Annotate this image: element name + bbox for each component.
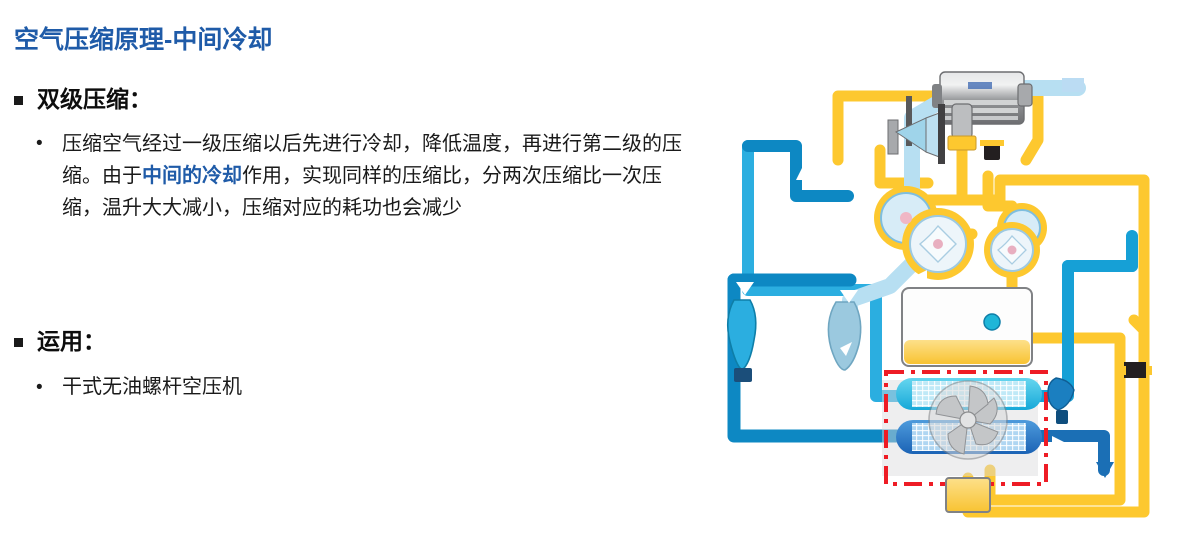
body-line-1: 压缩空气经过一级压缩以后先进行冷却，降低温度，再 <box>62 133 542 155</box>
slide-root: 空气压缩原理-中间冷却 双级压缩： • 压缩空气经过一级压缩以后先进行冷却，降低… <box>0 0 1200 546</box>
text-column: 空气压缩原理-中间冷却 双级压缩： • 压缩空气经过一级压缩以后先进行冷却，降低… <box>0 0 700 546</box>
body-line-3: 作用，实现同样的 <box>242 165 402 187</box>
section-double-stage-compression: 双级压缩： • 压缩空气经过一级压缩以后先进行冷却，降低温度，再进行第二级的压缩… <box>14 84 684 224</box>
cooler-assembly <box>882 378 1042 476</box>
dot-bullet-icon: • <box>36 372 62 404</box>
oil-tank <box>946 478 990 512</box>
section-body: • 压缩空气经过一级压缩以后先进行冷却，降低温度，再进行第二级的压缩。由于中间的… <box>14 128 684 224</box>
cooling-fan <box>929 381 1007 459</box>
section-body-text: 压缩空气经过一级压缩以后先进行冷却，降低温度，再进行第二级的压缩。由于中间的冷却… <box>62 128 684 224</box>
section-heading-label: 双级压缩： <box>37 84 152 114</box>
section-heading: 双级压缩： <box>14 84 684 114</box>
compressor-flow-diagram <box>700 0 1200 546</box>
dot-bullet-icon: • <box>36 128 62 224</box>
air-filter <box>932 72 1032 124</box>
square-bullet-icon <box>14 96 23 105</box>
body-line-5: 对应的耗功也会减少 <box>282 197 462 219</box>
section-application: 运用： • 干式无油螺杆空压机 <box>14 326 684 404</box>
highlighted-phrase: 中间的冷却 <box>142 165 242 187</box>
section-body: • 干式无油螺杆空压机 <box>14 372 684 404</box>
level-sensor-icon <box>984 314 1000 330</box>
square-bullet-icon <box>14 338 23 347</box>
second-stage-compressor <box>984 203 1047 278</box>
check-valve-right <box>1048 378 1074 424</box>
section-heading: 运用： <box>14 326 684 356</box>
separator-tank <box>902 288 1032 366</box>
section-body-text: 干式无油螺杆空压机 <box>62 372 684 404</box>
section-heading-label: 运用： <box>37 326 106 356</box>
page-title: 空气压缩原理-中间冷却 <box>14 20 272 56</box>
duct-cap <box>1062 78 1084 92</box>
